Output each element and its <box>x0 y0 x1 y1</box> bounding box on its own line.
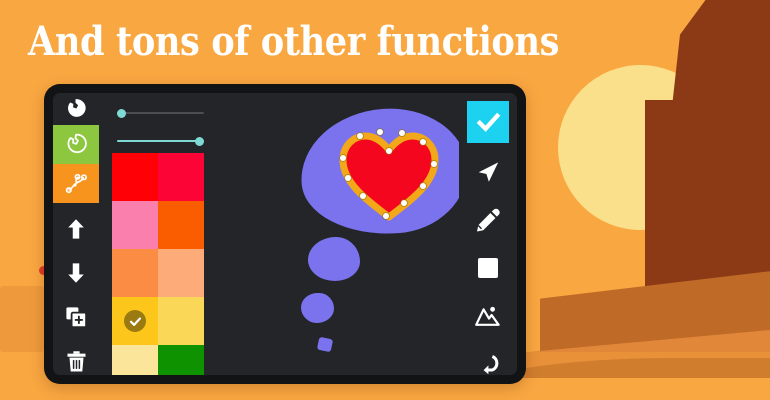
node-path-icon[interactable] <box>53 164 99 203</box>
thought-bubble-small[interactable] <box>301 293 334 323</box>
blob-filled-icon[interactable] <box>53 93 99 125</box>
opacity-slider[interactable] <box>117 106 204 120</box>
vector-node[interactable] <box>377 129 383 135</box>
size-slider[interactable] <box>117 134 204 148</box>
cactus-shape <box>0 286 44 352</box>
vector-node[interactable] <box>345 175 351 181</box>
swatch-orange-red[interactable] <box>158 201 204 249</box>
swatch-crimson[interactable] <box>158 153 204 201</box>
undo-icon[interactable] <box>467 343 509 375</box>
swatch-light-yellow[interactable] <box>158 297 204 345</box>
vector-node[interactable] <box>357 133 363 139</box>
drawing-canvas[interactable] <box>205 93 459 375</box>
trash-icon[interactable] <box>53 339 99 375</box>
mesa-rock-base-shape <box>645 100 770 300</box>
swatch-selected-check-icon <box>124 310 146 332</box>
slider-track <box>117 140 204 142</box>
swatch-pink[interactable] <box>112 201 158 249</box>
slider-thumb[interactable] <box>117 109 126 118</box>
swatch-red[interactable] <box>112 153 158 201</box>
vector-node[interactable] <box>431 161 437 167</box>
swatch-gold[interactable] <box>112 297 158 345</box>
promo-banner: And tons of other functions <box>0 0 770 400</box>
square-shape-icon[interactable] <box>467 247 509 289</box>
arrow-down-icon[interactable] <box>53 251 99 295</box>
slider-track <box>117 112 204 114</box>
vector-node[interactable] <box>383 213 389 219</box>
thought-bubble-medium[interactable] <box>308 237 360 281</box>
arrow-up-icon[interactable] <box>53 207 99 251</box>
left-toolbar <box>53 93 99 375</box>
heart-shape[interactable] <box>335 127 443 223</box>
tablet-screen <box>53 93 517 375</box>
swatch-salmon[interactable] <box>158 249 204 297</box>
image-insert-icon[interactable] <box>467 295 509 337</box>
slider-thumb[interactable] <box>195 137 204 146</box>
blob-outline-icon[interactable] <box>53 125 99 164</box>
vector-node[interactable] <box>360 193 366 199</box>
thought-bubble-tiny[interactable] <box>317 337 333 353</box>
pencil-draw-icon[interactable] <box>467 199 509 241</box>
tablet-device <box>44 84 526 384</box>
vector-node[interactable] <box>420 183 426 189</box>
right-toolbar <box>459 93 517 375</box>
swatch-orange[interactable] <box>112 249 158 297</box>
page-title: And tons of other functions <box>28 18 574 65</box>
duplicate-icon[interactable] <box>53 295 99 339</box>
swatch-pale-yellow[interactable] <box>112 345 158 375</box>
vector-node[interactable] <box>420 139 426 145</box>
vector-node[interactable] <box>386 148 392 154</box>
confirm-check-icon[interactable] <box>467 101 509 143</box>
cursor-select-icon[interactable] <box>467 151 509 193</box>
color-palette <box>112 153 204 375</box>
vector-node[interactable] <box>401 200 407 206</box>
swatch-green[interactable] <box>158 345 204 375</box>
vector-node[interactable] <box>340 155 346 161</box>
vector-node[interactable] <box>399 130 405 136</box>
